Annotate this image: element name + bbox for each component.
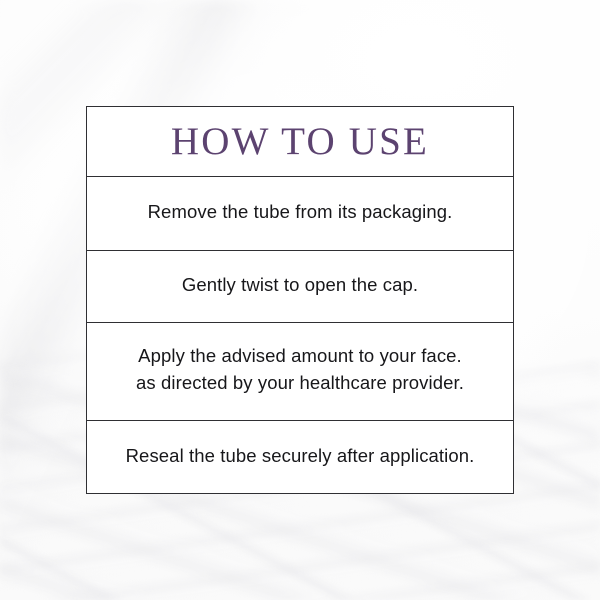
step-2-text: Gently twist to open the cap. — [182, 272, 418, 298]
step-1-text: Remove the tube from its packaging. — [148, 199, 453, 225]
step-row-3: Apply the advised amount to your face. a… — [87, 323, 513, 421]
step-3-text: Apply the advised amount to your face. a… — [136, 343, 464, 396]
page-title: HOW TO USE — [171, 122, 429, 161]
step-row-4: Reseal the tube securely after applicati… — [87, 421, 513, 495]
step-row-2: Gently twist to open the cap. — [87, 251, 513, 323]
step-4-text: Reseal the tube securely after applicati… — [126, 443, 475, 469]
screenshot-canvas: HOW TO USE Remove the tube from its pack… — [0, 0, 600, 600]
step-row-1: Remove the tube from its packaging. — [87, 177, 513, 251]
card-header: HOW TO USE — [87, 107, 513, 177]
how-to-use-card: HOW TO USE Remove the tube from its pack… — [86, 106, 514, 494]
